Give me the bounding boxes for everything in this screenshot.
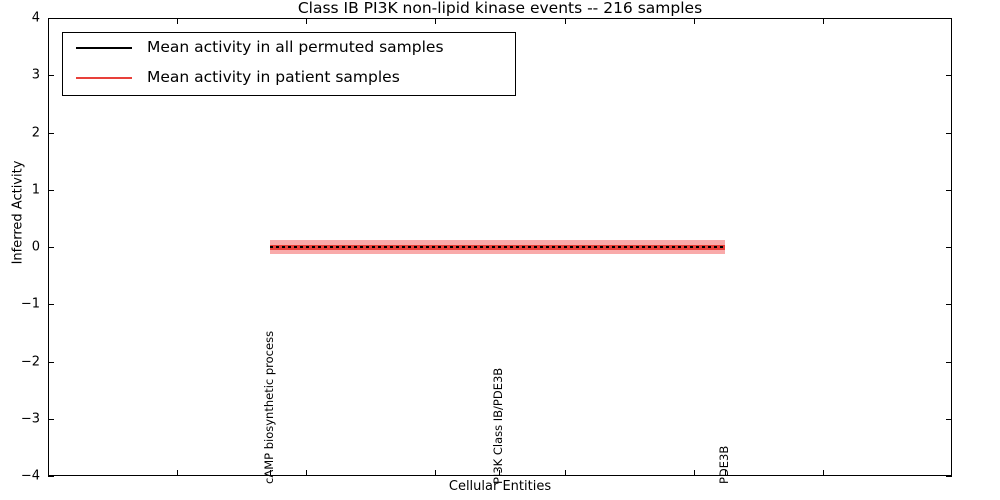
x-axis-label: Cellular Entities <box>48 479 952 494</box>
y-tick-label: 0 <box>0 240 40 255</box>
y-tick-label: −4 <box>0 469 40 484</box>
chart-legend: Mean activity in all permuted samplesMea… <box>62 32 516 96</box>
y-tick-label: 2 <box>0 125 40 140</box>
legend-item-label: Mean activity in all permuted samples <box>147 38 444 56</box>
legend-item-label: Mean activity in patient samples <box>147 68 400 86</box>
legend-item[interactable]: Mean activity in patient samples <box>63 64 515 92</box>
y-tick-label: −1 <box>0 297 40 312</box>
y-tick-mark <box>48 476 54 477</box>
y-tick-label: 3 <box>0 68 40 83</box>
y-axis-label: Inferred Activity <box>11 113 26 313</box>
legend-item[interactable]: Mean activity in all permuted samples <box>63 34 515 62</box>
y-tick-mark-right <box>946 476 952 477</box>
legend-color-swatch <box>76 47 132 49</box>
y-tick-label: 4 <box>0 11 40 26</box>
legend-color-swatch <box>76 77 132 79</box>
chart-title: Class IB PI3K non-lipid kinase events --… <box>48 0 952 17</box>
y-tick-label: 1 <box>0 182 40 197</box>
mean-permuted-samples-line <box>270 246 725 248</box>
y-tick-label: −2 <box>0 354 40 369</box>
y-tick-label: −3 <box>0 411 40 426</box>
chart-figure: Class IB PI3K non-lipid kinase events --… <box>0 0 1000 500</box>
